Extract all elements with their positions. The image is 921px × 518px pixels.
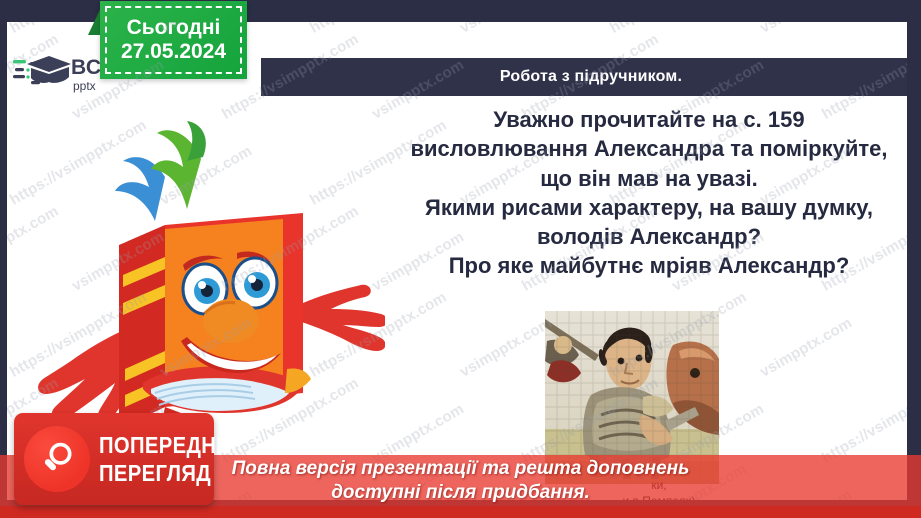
slide-outer-frame: ки, и в Помпеях) п с Робота з підручнико… bbox=[0, 0, 921, 518]
body-line-2: висловлювання Александра та поміркуйте, bbox=[385, 134, 907, 163]
watermark-text: https://vsimpptx.com bbox=[607, 22, 750, 37]
watermark-text: https://vsimpptx.com bbox=[819, 375, 907, 467]
watermark-text: vsimpptx.com bbox=[457, 22, 555, 37]
watermark-text: vsimpptx.com bbox=[457, 314, 555, 380]
book-mascot-illustration bbox=[15, 117, 385, 447]
promo-line-1: Повна версія презентації та решта доповн… bbox=[232, 457, 690, 481]
preview-badge-line-2: ПЕРЕГЛЯД bbox=[99, 462, 237, 485]
watermark-text: vsimpptx.com bbox=[757, 314, 855, 380]
date-badge: Сьогодні 27.05.2024 bbox=[100, 1, 247, 79]
date-badge-date-value: 27.05.2024 bbox=[121, 40, 226, 64]
preview-badge-line-1: ПОПЕРЕДНІЙ bbox=[99, 434, 237, 457]
body-line-1: Уважно прочитайте на с. 159 bbox=[385, 105, 907, 134]
preview-badge[interactable]: ПОПЕРЕДНІЙ ПЕРЕГЛЯД bbox=[14, 413, 214, 505]
body-text-block: Уважно прочитайте на с. 159 висловлюванн… bbox=[385, 105, 907, 281]
watermark-text: https://vsimpptx.com bbox=[307, 22, 450, 37]
body-line-4: Якими рисами характеру, на вашу думку, bbox=[385, 193, 907, 222]
magnifier-icon bbox=[24, 426, 90, 492]
page-title: Робота з підручником. bbox=[500, 68, 682, 86]
promo-line-2: доступні після придбання. bbox=[232, 481, 690, 505]
date-badge-today-label: Сьогодні bbox=[127, 16, 221, 40]
graduation-cap-icon bbox=[13, 52, 73, 96]
body-line-6: Про яке майбутнє мріяв Александр? bbox=[385, 251, 907, 280]
bottom-accent-stripe bbox=[0, 506, 921, 518]
body-line-5: володів Александр? bbox=[385, 222, 907, 251]
watermark-text: vsimpptx.com bbox=[757, 22, 855, 37]
logo-subtitle: pptx bbox=[73, 80, 123, 92]
promo-message: Повна версія презентації та решта доповн… bbox=[232, 457, 690, 505]
preview-badge-labels: ПОПЕРЕДНІЙ ПЕРЕГЛЯД bbox=[99, 434, 256, 485]
body-line-3: що він мав на увазі. bbox=[385, 164, 907, 193]
header-banner: Робота з підручником. bbox=[261, 58, 907, 96]
